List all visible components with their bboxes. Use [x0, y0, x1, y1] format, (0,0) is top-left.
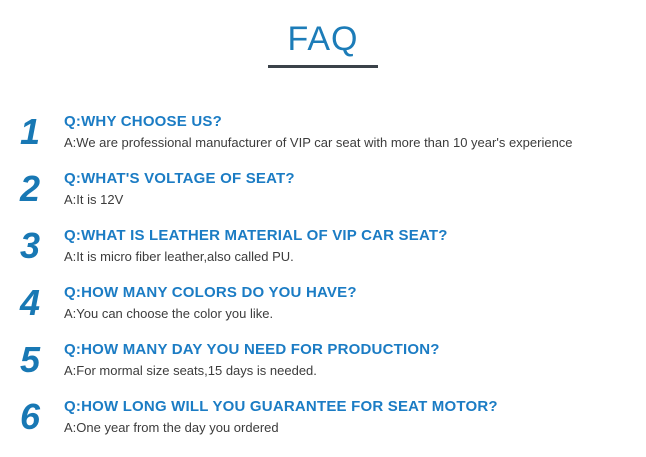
title-underline-divider: [268, 65, 378, 68]
faq-item-question: Q:HOW MANY DAY YOU NEED FOR PRODUCTION?: [64, 340, 646, 359]
faq-item-answer: A:We are professional manufacturer of VI…: [64, 135, 646, 151]
faq-item-answer: A:You can choose the color you like.: [64, 306, 646, 322]
faq-item-question: Q:HOW MANY COLORS DO YOU HAVE?: [64, 283, 646, 302]
faq-item-answer: A:It is 12V: [64, 192, 646, 208]
faq-item-answer: A:For mormal size seats,15 days is neede…: [64, 363, 646, 379]
faq-item-number: 1: [20, 114, 54, 150]
faq-item-question: Q:WHY CHOOSE US?: [64, 112, 646, 131]
faq-item-answer: A:It is micro fiber leather,also called …: [64, 249, 646, 265]
faq-item-answer: A:One year from the day you ordered: [64, 420, 646, 436]
faq-item-question: Q:HOW LONG WILL YOU GUARANTEE FOR SEAT M…: [64, 397, 646, 416]
faq-item-number: 2: [20, 171, 54, 207]
faq-item-number: 4: [20, 285, 54, 321]
faq-item: 5 Q:HOW MANY DAY YOU NEED FOR PRODUCTION…: [0, 340, 646, 397]
faq-item: 1 Q:WHY CHOOSE US? A:We are professional…: [0, 112, 646, 169]
faq-page: FAQ 1 Q:WHY CHOOSE US? A:We are professi…: [0, 0, 646, 457]
faq-item-number: 5: [20, 342, 54, 378]
faq-item: 2 Q:WHAT'S VOLTAGE OF SEAT? A:It is 12V: [0, 169, 646, 226]
faq-header: FAQ: [0, 20, 646, 68]
page-title: FAQ: [0, 20, 646, 58]
faq-item-question: Q:WHAT'S VOLTAGE OF SEAT?: [64, 169, 646, 188]
faq-item-number: 3: [20, 228, 54, 264]
faq-item-question: Q:WHAT IS LEATHER MATERIAL OF VIP CAR SE…: [64, 226, 646, 245]
faq-item: 3 Q:WHAT IS LEATHER MATERIAL OF VIP CAR …: [0, 226, 646, 283]
faq-item-number: 6: [20, 399, 54, 435]
faq-item: 6 Q:HOW LONG WILL YOU GUARANTEE FOR SEAT…: [0, 397, 646, 454]
faq-list: 1 Q:WHY CHOOSE US? A:We are professional…: [0, 112, 646, 454]
faq-item: 4 Q:HOW MANY COLORS DO YOU HAVE? A:You c…: [0, 283, 646, 340]
